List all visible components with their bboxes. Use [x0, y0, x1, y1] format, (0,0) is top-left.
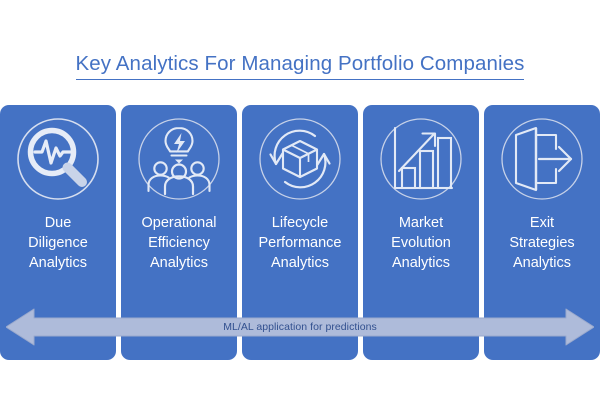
page-title-text: Key Analytics For Managing Portfolio Com…	[76, 52, 525, 80]
card-label: Market Evolution Analytics	[363, 213, 479, 273]
ml-application-arrow-label: ML/AL application for predictions	[0, 307, 600, 347]
card-label: Operational Efficiency Analytics	[121, 213, 237, 273]
page-title: Key Analytics For Managing Portfolio Com…	[0, 52, 600, 80]
ml-application-arrow-text: ML/AL application for predictions	[223, 321, 377, 333]
bar-chart-growth-icon	[375, 113, 467, 205]
lightbulb-people-icon	[133, 113, 225, 205]
box-cycle-icon	[254, 113, 346, 205]
card-label: Exit Strategies Analytics	[484, 213, 600, 273]
card-label: Lifecycle Performance Analytics	[242, 213, 358, 273]
card-label: Due Diligence Analytics	[0, 213, 116, 273]
magnifier-pulse-icon	[12, 113, 104, 205]
exit-door-arrow-icon	[496, 113, 588, 205]
